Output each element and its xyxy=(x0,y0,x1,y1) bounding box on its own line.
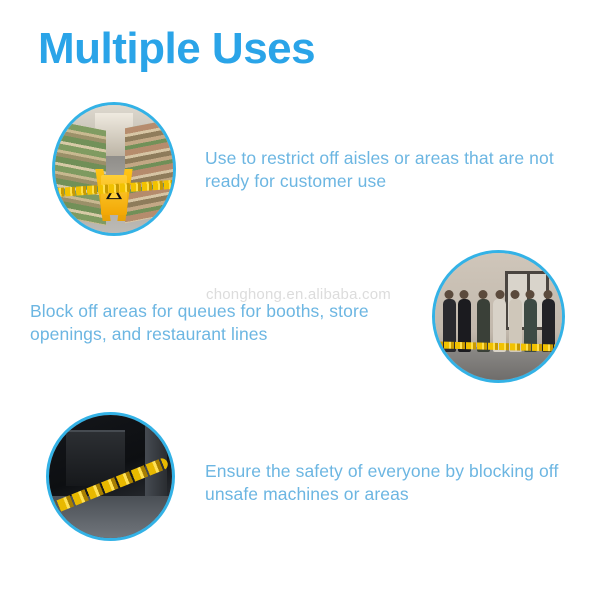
warehouse-scene xyxy=(49,415,172,538)
use-case-text-2: Block off areas for queues for booths, s… xyxy=(30,300,405,346)
photo-queue-line xyxy=(432,250,565,383)
supermarket-scene xyxy=(55,105,173,233)
use-case-text-3: Ensure the safety of everyone by blockin… xyxy=(205,460,590,506)
queue-scene xyxy=(435,253,562,380)
poster: Multiple Uses Use to restrict off aisles… xyxy=(0,0,600,600)
use-case-text-1: Use to restrict off aisles or areas that… xyxy=(205,147,565,193)
wet-floor-sign-icon xyxy=(97,169,131,221)
photo-warehouse-doorway xyxy=(46,412,175,541)
photo-supermarket-aisle xyxy=(52,102,176,236)
page-title: Multiple Uses xyxy=(38,26,315,72)
